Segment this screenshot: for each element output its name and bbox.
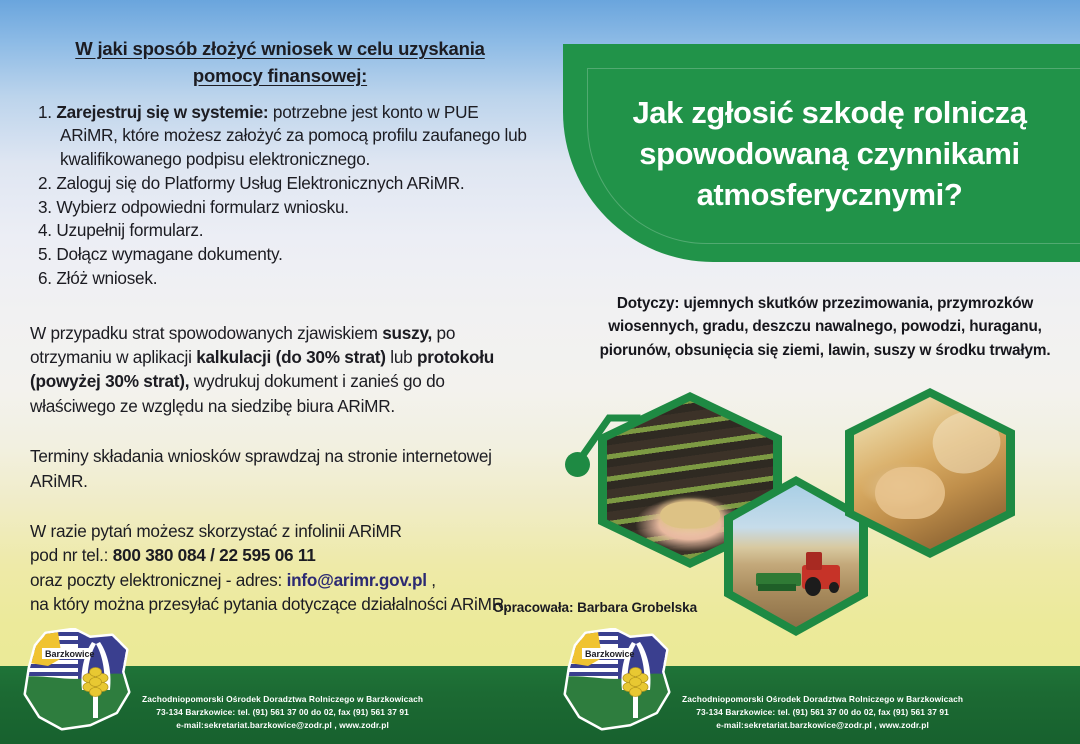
- step-number: 4.: [38, 220, 52, 240]
- left-content-column: W jaki sposób złożyć wniosek w celu uzys…: [0, 0, 560, 665]
- list-item: 5. Dołącz wymagane dokumenty.: [30, 243, 530, 267]
- step-text: Dołącz wymagane dokumenty.: [56, 244, 282, 264]
- hex-photo-frame: [854, 397, 1006, 549]
- list-item: 1. Zarejestruj się w systemie: potrzebne…: [30, 101, 530, 172]
- footer-line-3: e-mail:sekretariat.barzkowice@zodr.pl , …: [142, 719, 423, 732]
- text-fragment: oraz poczty elektronicznej - adres:: [30, 570, 287, 590]
- list-item: 4. Uzupełnij formularz.: [30, 219, 530, 243]
- poland-map-logo-icon: Barzkowice: [16, 628, 136, 740]
- list-item: 3. Wybierz odpowiedni formularz wniosku.: [30, 196, 530, 220]
- scope-description: Dotyczy: ujemnych skutków przezimowania,…: [575, 292, 1075, 362]
- footer-line-3: e-mail:sekretariat.barzkowice@zodr.pl , …: [682, 719, 963, 732]
- footer-address-right: Zachodniopomorski Ośrodek Doradztwa Roln…: [682, 693, 963, 740]
- footer-block-right: Barzkowice Zachodniopomorski Ośrodek Dor…: [556, 628, 963, 740]
- tractor-wheel-rear: [805, 577, 821, 595]
- zodr-logo: Barzkowice: [16, 628, 136, 740]
- tractor-wheel-front: [829, 582, 839, 593]
- text-bold-susza: suszy,: [382, 323, 432, 343]
- helpline-phone-number: 800 380 084 / 22 595 06 11: [113, 545, 316, 565]
- step-number: 3.: [38, 197, 52, 217]
- tractor-plowing-field-photo: [733, 485, 859, 627]
- hex-photo-frame: [733, 485, 859, 627]
- step-number: 5.: [38, 244, 52, 264]
- steps-list: 1. Zarejestruj się w systemie: potrzebne…: [30, 101, 530, 291]
- hands-holding-grain-photo: [854, 397, 1006, 549]
- text-fragment: lub: [386, 347, 417, 367]
- step-text: Uzupełnij formularz.: [56, 220, 203, 240]
- email-link[interactable]: info@arimr.gov.pl: [287, 570, 427, 590]
- green-region: [16, 672, 136, 740]
- plow-shape-2: [758, 584, 796, 591]
- step-number: 2.: [38, 173, 52, 193]
- logo-city-label: Barzkowice: [582, 648, 635, 659]
- main-headline: Jak zgłosić szkodę rolniczą spowodowaną …: [593, 92, 1066, 216]
- headline-green-panel: Jak zgłosić szkodę rolniczą spowodowaną …: [563, 44, 1080, 262]
- text-fragment: pod nr tel.:: [30, 545, 113, 565]
- logo-city-text: Barzkowice: [585, 649, 635, 659]
- step-number: 1.: [38, 102, 52, 122]
- logo-city-text: Barzkowice: [45, 649, 95, 659]
- logo-city-label: Barzkowice: [42, 648, 95, 659]
- paragraph-drought: W przypadku strat spowodowanych zjawiski…: [30, 321, 530, 419]
- tractor-cab-shape: [806, 552, 822, 570]
- step-text: Zaloguj się do Platformy Usług Elektroni…: [56, 173, 464, 193]
- list-item: 6. Złóż wniosek.: [30, 267, 530, 291]
- footer-line-1: Zachodniopomorski Ośrodek Doradztwa Roln…: [142, 693, 423, 706]
- paragraph-deadlines: Terminy składania wniosków sprawdzaj na …: [30, 444, 530, 493]
- green-region: [556, 672, 676, 740]
- howto-title: W jaki sposób złożyć wniosek w celu uzys…: [30, 36, 530, 90]
- hexagon-photo-grain: [845, 388, 1015, 558]
- zodr-logo-secondary: Barzkowice: [556, 628, 676, 740]
- footer-block-left: Barzkowice Zachodniopomorski Ośrodek Dor…: [16, 628, 423, 740]
- step-text: Wybierz odpowiedni formularz wniosku.: [56, 197, 348, 217]
- text-bold-kalkulacja: kalkulacji (do 30% strat): [196, 347, 386, 367]
- footer-line-2: 73-134 Barzkowice: tel. (91) 561 37 00 d…: [142, 706, 423, 719]
- footer-line-1: Zachodniopomorski Ośrodek Doradztwa Roln…: [682, 693, 963, 706]
- footer-line-2: 73-134 Barzkowice: tel. (91) 561 37 00 d…: [682, 706, 963, 719]
- step-text: Złóż wniosek.: [56, 268, 157, 288]
- step-bold: Zarejestruj się w systemie:: [56, 102, 268, 122]
- text-fragment: W przypadku strat spowodowanych zjawiski…: [30, 323, 382, 343]
- step-number: 6.: [38, 268, 52, 288]
- footer-address-left: Zachodniopomorski Ośrodek Doradztwa Roln…: [142, 693, 423, 740]
- poland-map-logo-icon: Barzkowice: [556, 628, 676, 740]
- text-fragment: ,: [427, 570, 436, 590]
- list-item: 2. Zaloguj się do Platformy Usług Elektr…: [30, 172, 530, 196]
- contact-line-1: W razie pytań możesz skorzystać z infoli…: [30, 521, 402, 541]
